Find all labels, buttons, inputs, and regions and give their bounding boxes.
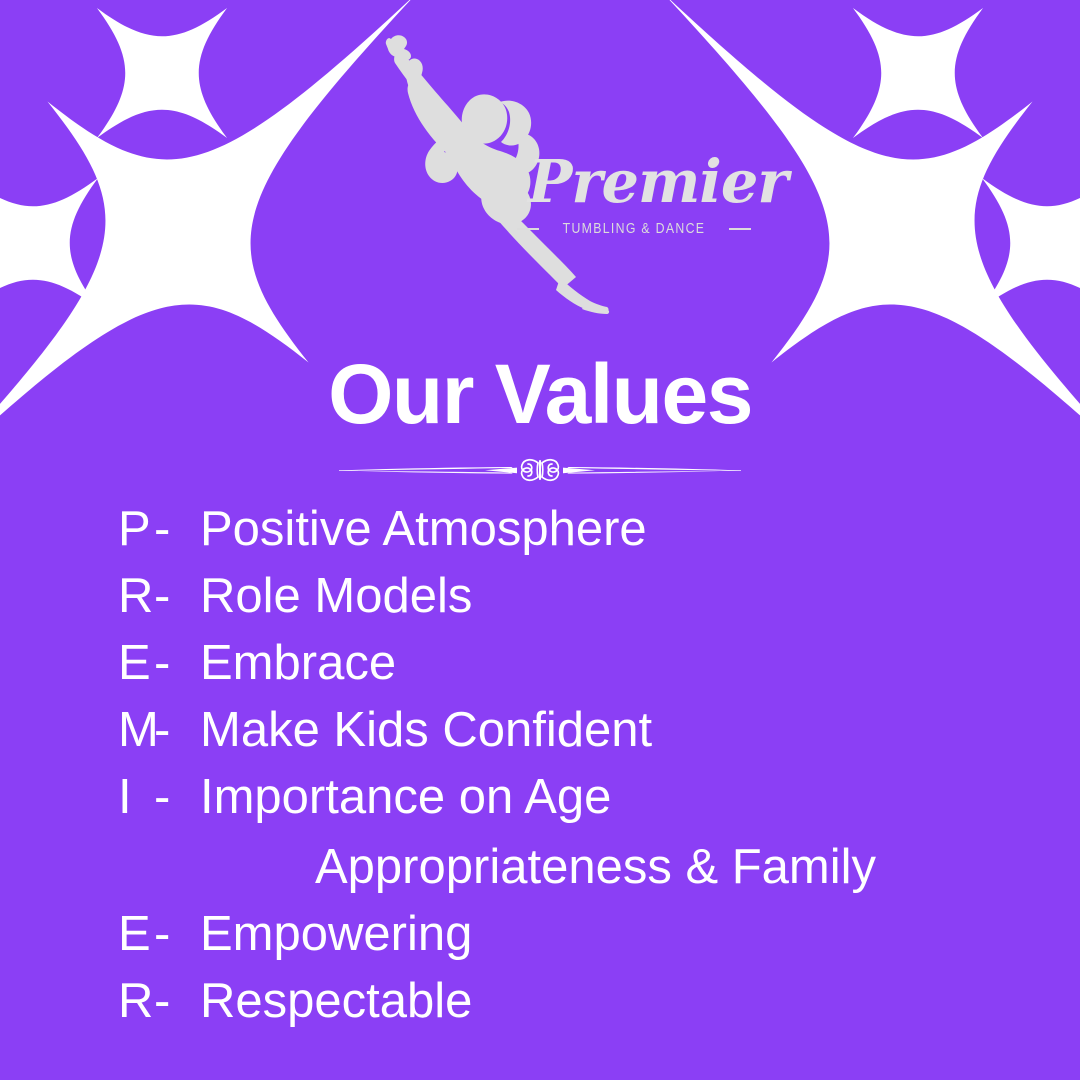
tagline-rule-left <box>517 228 539 230</box>
value-separator: - <box>154 706 200 755</box>
value-label: Importance on Age <box>200 773 611 822</box>
value-item-e1: E - Embrace <box>0 639 1080 706</box>
brand-tagline-row: TUMBLING & DANCE <box>528 220 740 237</box>
page-title: Our Values <box>0 352 1080 436</box>
brand-logo: Premier TUMBLING & DANCE <box>380 24 740 314</box>
value-item-p: P - Positive Atmosphere <box>0 505 1080 572</box>
value-letter: M <box>118 706 154 755</box>
value-separator: - <box>154 773 200 822</box>
values-poster: Premier TUMBLING & DANCE Our Values <box>0 0 1080 1080</box>
value-item-r2: R - Respectable <box>0 977 1080 1044</box>
value-letter: P <box>118 505 154 554</box>
brand-name: Premier <box>528 152 740 211</box>
value-separator: - <box>154 505 200 554</box>
sparkle-small-left-top <box>32 0 292 203</box>
value-letter: E <box>118 639 154 688</box>
value-letter: R <box>118 572 154 621</box>
value-item-r1: R - Role Models <box>0 572 1080 639</box>
value-label: Role Models <box>200 572 472 621</box>
sparkle-small-right-edge <box>917 113 1080 373</box>
sparkle-small-right-top <box>788 0 1048 203</box>
value-item-i: I - Importance on Age <box>0 773 1080 843</box>
value-label: Positive Atmosphere <box>200 505 647 554</box>
value-label: Respectable <box>200 977 472 1026</box>
value-letter: I <box>118 773 154 822</box>
value-separator: - <box>154 977 200 1026</box>
value-label: Empowering <box>200 910 472 959</box>
value-label-continuation: Appropriateness & Family <box>0 843 1080 910</box>
value-label: Embrace <box>200 639 396 688</box>
divider-flourish-icon <box>522 460 559 480</box>
sparkle-small-left-edge <box>0 113 163 373</box>
brand-tagline: TUMBLING & DANCE <box>563 220 706 237</box>
value-label: Make Kids Confident <box>200 706 652 755</box>
ornamental-divider <box>335 452 745 488</box>
value-separator: - <box>154 572 200 621</box>
value-item-e2: E - Empowering <box>0 910 1080 977</box>
value-letter: R <box>118 977 154 1026</box>
tagline-rule-right <box>729 228 751 230</box>
brand-wordmark: Premier TUMBLING & DANCE <box>528 152 740 237</box>
value-item-m: M - Make Kids Confident <box>0 706 1080 773</box>
value-separator: - <box>154 639 200 688</box>
value-separator: - <box>154 910 200 959</box>
values-list: P - Positive Atmosphere R - Role Models … <box>0 505 1080 1044</box>
value-letter: E <box>118 910 154 959</box>
